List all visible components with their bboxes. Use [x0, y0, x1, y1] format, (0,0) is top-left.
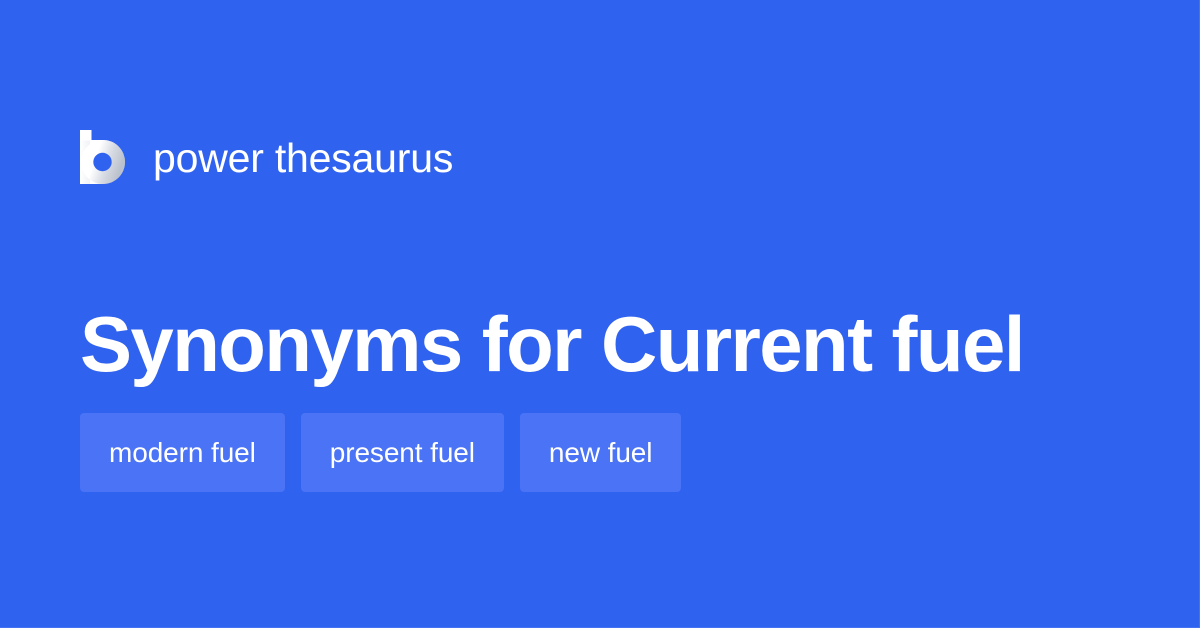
synonym-list: modern fuel present fuel new fuel	[80, 413, 681, 492]
power-thesaurus-b-logo-icon	[80, 130, 126, 184]
synonym-chip[interactable]: modern fuel	[80, 413, 285, 492]
brand-lockup[interactable]: power thesaurus	[80, 126, 453, 188]
synonym-chip[interactable]: present fuel	[301, 413, 504, 492]
page-title: Synonyms for Current fuel	[80, 298, 1160, 390]
share-card: power thesaurus Synonyms for Current fue…	[0, 0, 1200, 628]
synonym-chip[interactable]: new fuel	[520, 413, 682, 492]
brand-name: power thesaurus	[153, 138, 453, 179]
